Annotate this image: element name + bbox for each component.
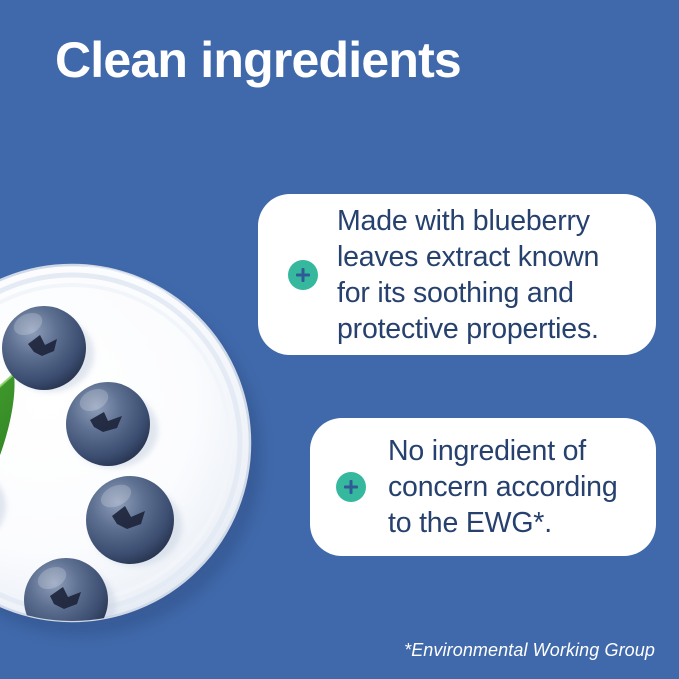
page-title: Clean ingredients	[55, 33, 461, 88]
card-text: No ingredient of concern according to th…	[388, 433, 618, 541]
plus-icon	[336, 472, 366, 502]
footnote: *Environmental Working Group	[404, 640, 655, 661]
petri-dish-photo	[0, 258, 282, 658]
card-text: Made with blueberry leaves extract known…	[337, 203, 599, 347]
card-no-ingredient-of-concern: No ingredient of concern according to th…	[310, 418, 656, 556]
plus-icon	[288, 260, 318, 290]
card-blueberry-extract: Made with blueberry leaves extract known…	[258, 194, 656, 355]
